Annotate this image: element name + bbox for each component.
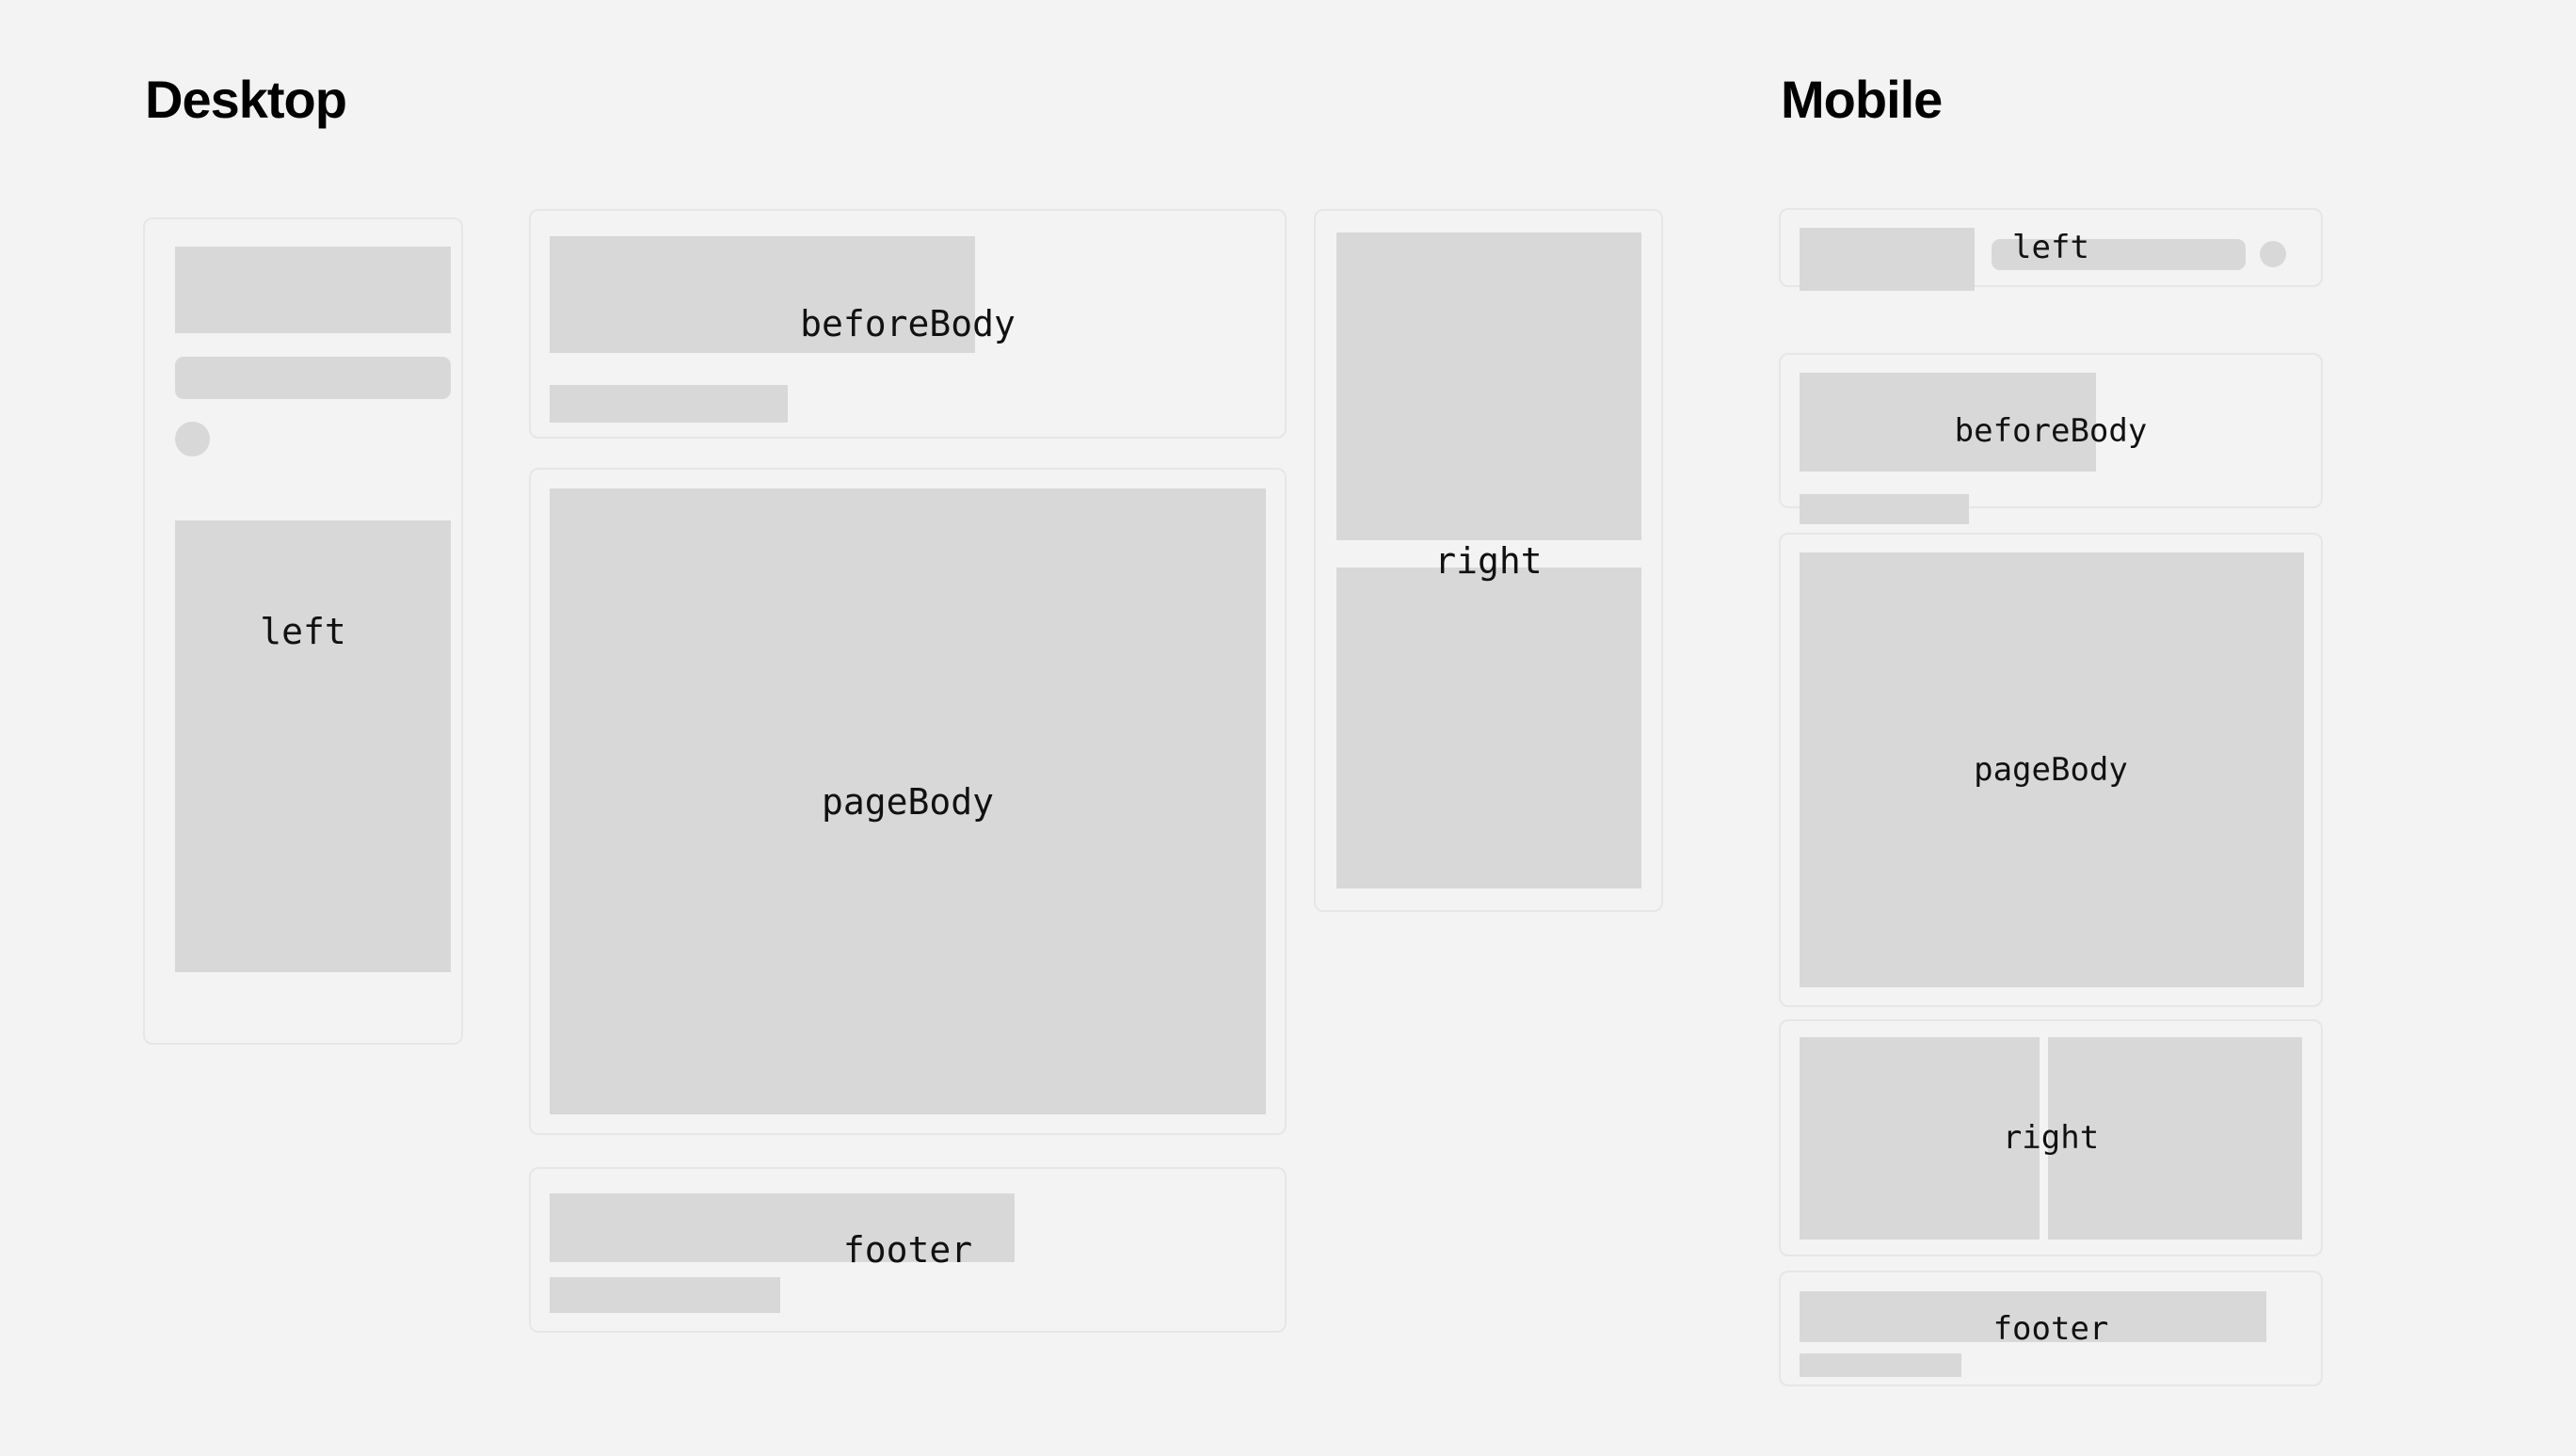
right-rail-lower-block [1336,568,1641,888]
mobile-right-region-panel[interactable]: right [1779,1019,2323,1256]
before-body-hero-block [550,236,975,353]
sidebar-subheader-block [175,357,451,399]
mobile-pagebody-region-panel[interactable]: pageBody [1779,533,2323,1007]
mobile-footer-secondary-block [1800,1353,1961,1377]
sidebar-header-block [175,247,451,333]
mobile-right-first-block [1800,1037,2040,1240]
right-rail-upper-block [1336,232,1641,540]
mobile-left-avatar-dot-icon [2260,241,2286,267]
mobile-footer-primary-block [1800,1291,2266,1342]
desktop-footer-region-panel[interactable]: footer [529,1167,1287,1333]
desktop-pagebody-region-panel[interactable]: pageBody [529,468,1287,1135]
layout-preview-stage: Desktop left beforeBody pageBody footer … [0,0,2576,1456]
mobile-right-second-block [2048,1037,2302,1240]
mobile-left-logo-block [1800,228,1975,291]
mobile-left-region-panel[interactable]: left [1779,208,2323,287]
footer-primary-block [550,1193,1015,1262]
page-body-main-block [550,488,1266,1114]
mobile-left-bar-block [1992,239,2246,270]
footer-secondary-block [550,1277,780,1313]
desktop-beforebody-region-panel[interactable]: beforeBody [529,209,1287,439]
mobile-page-body-main-block [1800,552,2304,987]
sidebar-avatar-dot-icon [175,422,210,456]
before-body-caption-block [550,385,788,423]
desktop-section-heading: Desktop [145,73,346,126]
mobile-before-body-hero-block [1800,373,2096,472]
mobile-beforebody-region-panel[interactable]: beforeBody [1779,353,2323,508]
sidebar-nav-block [175,520,451,972]
desktop-right-region-panel[interactable]: right [1314,209,1663,912]
mobile-section-heading: Mobile [1781,73,1942,126]
mobile-before-body-caption-block [1800,494,1969,524]
mobile-footer-region-panel[interactable]: footer [1779,1271,2323,1386]
desktop-left-region-panel[interactable]: left [143,217,463,1045]
